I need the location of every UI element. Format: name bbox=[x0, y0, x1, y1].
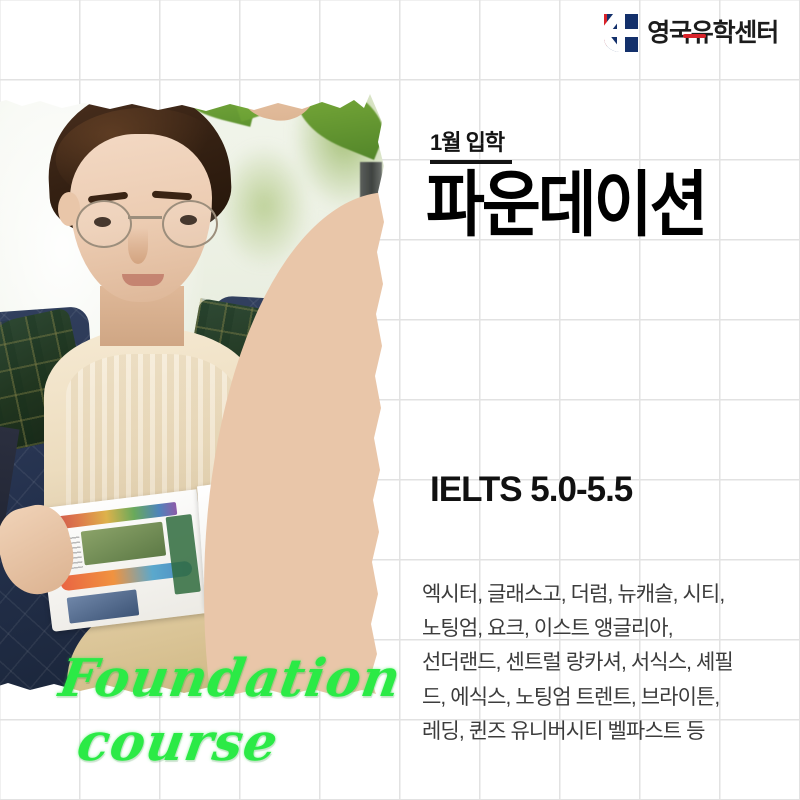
page-title: 파운데이션 bbox=[426, 168, 705, 243]
university-list-line: 레딩, 퀸즈 유니버시티 벨파스트 등 bbox=[422, 715, 774, 749]
kicker-block: 1월 입학 bbox=[430, 132, 512, 164]
glasses-icon bbox=[76, 200, 222, 244]
content-column: 1월 입학 파운데이션 IELTS 5.0-5.5 엑시터, 글래스고, 더럼,… bbox=[418, 0, 790, 800]
logo-red-strike-icon bbox=[683, 34, 706, 38]
university-list-line: 드, 에식스, 노팅엄 트렌트, 브라이튼, bbox=[422, 681, 774, 715]
ear bbox=[204, 192, 400, 714]
poster-canvas: 영국유학센터 bbox=[0, 0, 800, 800]
nose bbox=[128, 228, 148, 264]
kicker-underline bbox=[430, 160, 512, 164]
mouth bbox=[122, 274, 164, 286]
university-list: 엑시터, 글래스고, 더럼, 뉴캐슬, 시티, 노팅엄, 요크, 이스트 앵글리… bbox=[422, 578, 774, 749]
brand-logo[interactable]: 영국유학센터 bbox=[604, 14, 778, 52]
intake-kicker: 1월 입학 bbox=[430, 132, 512, 154]
student-photo-card bbox=[0, 42, 400, 714]
uk-flag-k-icon bbox=[604, 14, 638, 52]
university-list-line: 엑시터, 글래스고, 더럼, 뉴캐슬, 시티, bbox=[422, 578, 774, 612]
university-list-line: 노팅엄, 요크, 이스트 앵글리아, bbox=[422, 612, 774, 646]
hand bbox=[231, 42, 325, 127]
university-list-line: 선더랜드, 센트럴 랑카셔, 서식스, 셰필 bbox=[422, 646, 774, 680]
student-figure bbox=[0, 42, 400, 714]
student-photo bbox=[0, 42, 400, 714]
brand-name: 영국유학센터 bbox=[647, 21, 778, 46]
ielts-requirement: IELTS 5.0-5.5 bbox=[430, 470, 632, 510]
